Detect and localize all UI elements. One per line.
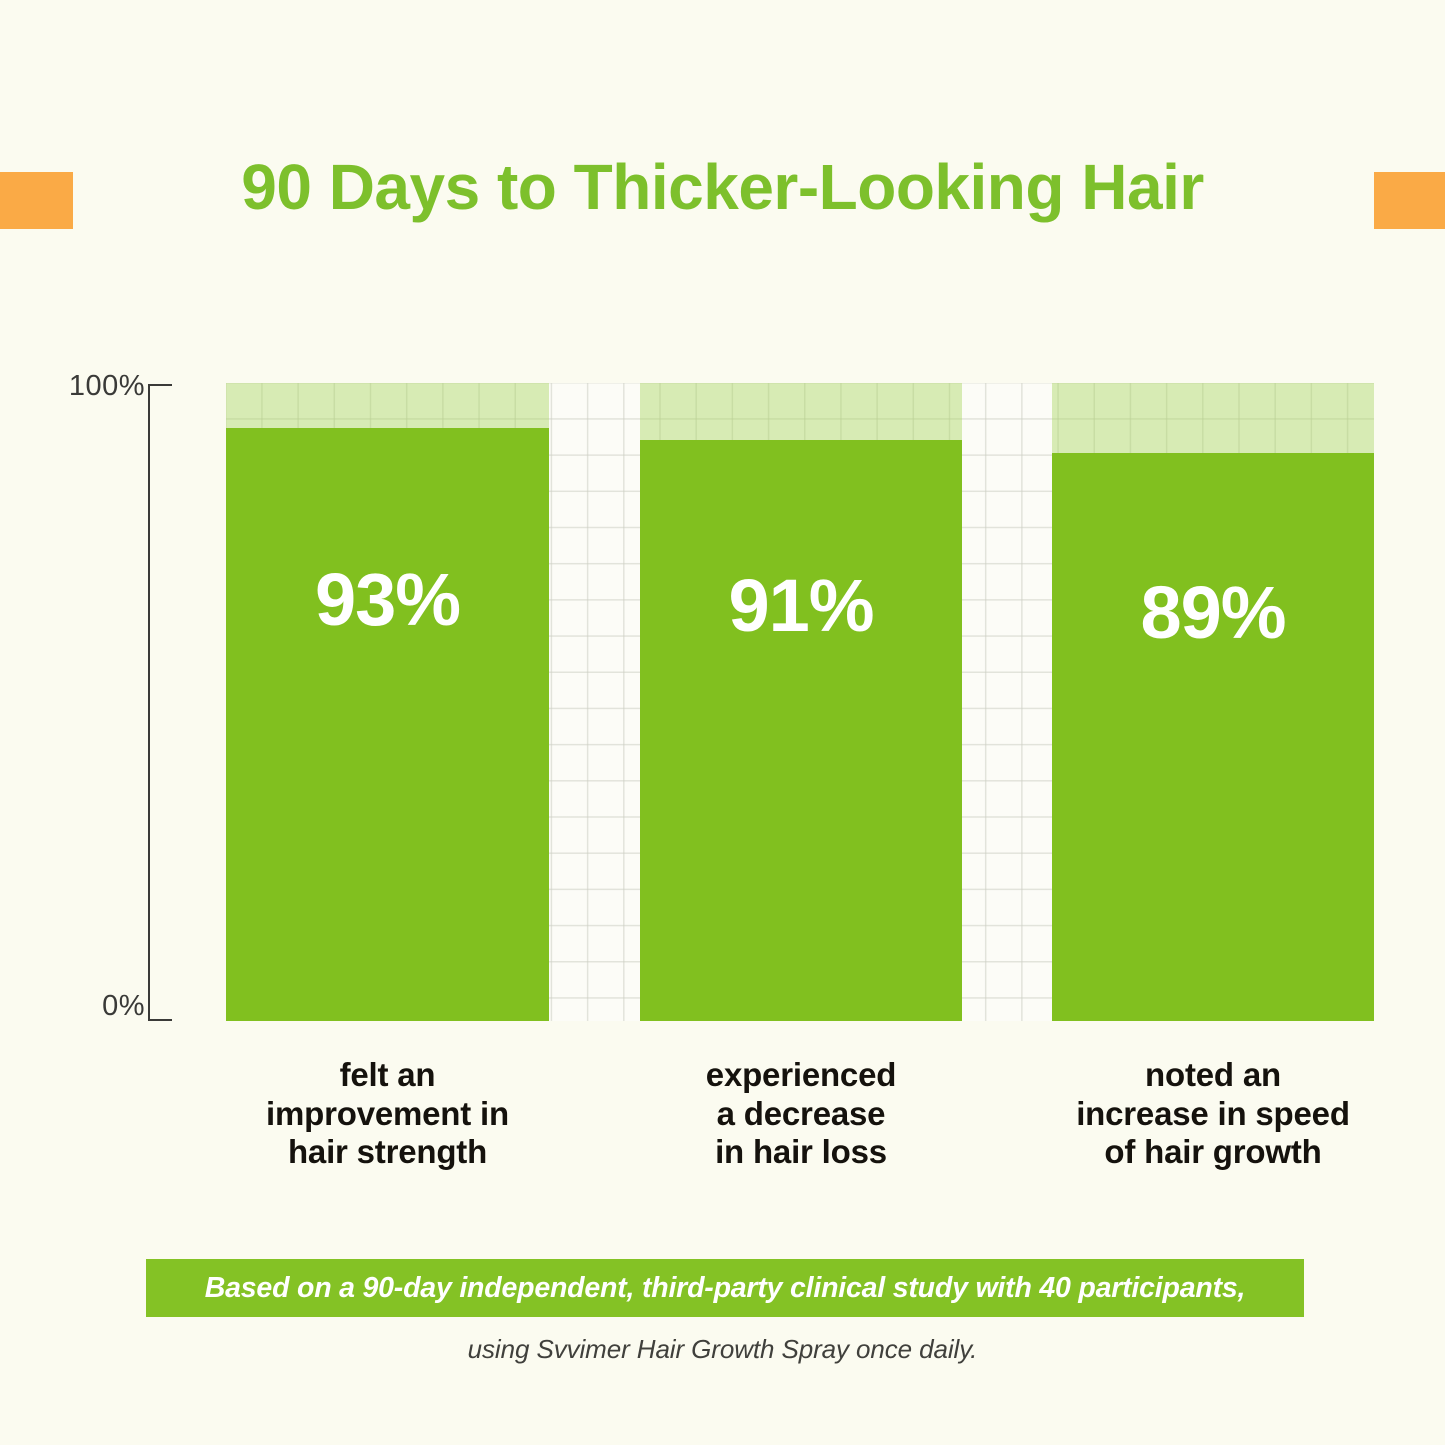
- bar-caption-2: noted an increase in speed of hair growt…: [1012, 1056, 1414, 1172]
- bar-caption-0-line-1: improvement in: [196, 1095, 579, 1134]
- bar-remainder-1: [640, 383, 962, 440]
- bar-remainder-0: [226, 383, 549, 428]
- footer-banner: Based on a 90-day independent, third-par…: [146, 1259, 1304, 1317]
- bar-caption-0-line-2: hair strength: [196, 1133, 579, 1172]
- bar-caption-2-line-1: increase in speed: [1012, 1095, 1414, 1134]
- y-axis-label-top: 100%: [65, 370, 145, 403]
- bar-fill-2: 89%: [1052, 453, 1374, 1021]
- bar-remainder-2: [1052, 383, 1374, 453]
- bar-chart: 100% 0% 93% 91% 89% felt an improvement …: [0, 0, 1445, 1445]
- bar-caption-1-line-2: in hair loss: [610, 1133, 992, 1172]
- bar-caption-0-line-0: felt an: [196, 1056, 579, 1095]
- bar-column-1: 91%: [640, 383, 962, 1021]
- bar-column-2: 89%: [1052, 383, 1374, 1021]
- bar-caption-2-line-2: of hair growth: [1012, 1133, 1414, 1172]
- bar-caption-1-line-0: experienced: [610, 1056, 992, 1095]
- bar-value-label-1: 91%: [728, 563, 873, 648]
- y-axis-label-bottom: 0%: [65, 990, 145, 1023]
- infographic-root: 90 Days to Thicker-Looking Hair 100% 0% …: [0, 0, 1445, 1445]
- bar-caption-2-line-0: noted an: [1012, 1056, 1414, 1095]
- y-axis-bracket: [148, 384, 172, 1021]
- footer-note: using Svvimer Hair Growth Spray once dai…: [0, 1334, 1445, 1365]
- bar-value-label-2: 89%: [1140, 570, 1285, 655]
- footer-banner-text: Based on a 90-day independent, third-par…: [205, 1272, 1246, 1305]
- bar-caption-1-line-1: a decrease: [610, 1095, 992, 1134]
- bar-fill-0: 93%: [226, 428, 549, 1021]
- bar-fill-1: 91%: [640, 440, 962, 1021]
- bar-value-label-0: 93%: [315, 557, 460, 642]
- bar-caption-0: felt an improvement in hair strength: [196, 1056, 579, 1172]
- bar-column-0: 93%: [226, 383, 549, 1021]
- bar-caption-1: experienced a decrease in hair loss: [610, 1056, 992, 1172]
